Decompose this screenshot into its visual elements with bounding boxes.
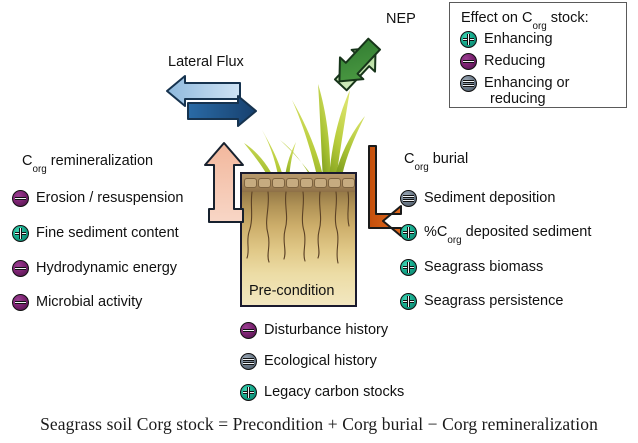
left-item-microbial: Microbial activity (12, 294, 142, 311)
legend-item-reducing: Reducing (460, 53, 545, 70)
burial-arrow (369, 146, 401, 236)
left-heading-pre: C (22, 153, 32, 169)
right-item-label: %Corg deposited sediment (424, 225, 591, 240)
left-item-erosion: Erosion / resuspension (12, 190, 184, 207)
right-heading-pre: C (404, 151, 414, 167)
minus-circle-icon (12, 260, 29, 277)
right-heading-post: burial (429, 151, 469, 167)
minus-circle-icon (240, 322, 257, 339)
left-item-label: Microbial activity (36, 295, 142, 310)
right-column-heading: Corg burial (404, 152, 468, 167)
minus-circle-icon (12, 190, 29, 207)
plus-circle-icon (400, 293, 417, 310)
lateral-flux-out-arrow (167, 76, 240, 106)
right-item-label-sub: org (447, 235, 461, 246)
left-column-heading: Corg remineralization (22, 154, 153, 169)
legend-title-pre: Effect on C (461, 10, 532, 26)
left-item-fine-sediment: Fine sediment content (12, 225, 179, 242)
legend-continuation: reducing (490, 91, 546, 107)
plus-circle-icon (400, 224, 417, 241)
legend-box: Effect on Corg stock: Enhancing Reducing… (449, 2, 627, 108)
legend-item-enhancing: Enhancing (460, 31, 553, 48)
minus-circle-icon (460, 53, 477, 70)
right-item-label: Seagrass persistence (424, 294, 563, 309)
legend-title: Effect on Corg stock: (461, 10, 589, 26)
legend-item-label: Enhancing or (484, 76, 569, 91)
remineralization-arrow (205, 143, 243, 222)
lateral-flux-in-arrow (188, 96, 256, 126)
right-item-label: Sediment deposition (424, 191, 555, 206)
plus-circle-icon (400, 259, 417, 276)
nep-down-arrow (328, 33, 386, 92)
left-item-label: Hydrodynamic energy (36, 261, 177, 276)
center-item-legacy-carbon: Legacy carbon stocks (240, 384, 404, 401)
right-item-label: Seagrass biomass (424, 260, 543, 275)
right-item-seagrass-biomass: Seagrass biomass (400, 259, 543, 276)
legend-title-post: stock: (547, 10, 589, 26)
both-circle-icon (240, 353, 257, 370)
both-circle-icon (400, 190, 417, 207)
right-item-percent-corg: %Corg deposited sediment (400, 224, 591, 241)
left-heading-sub: org (32, 164, 46, 175)
lateral-flux-label: Lateral Flux (168, 55, 244, 70)
right-item-label-post: deposited sediment (462, 224, 592, 240)
left-item-label: Erosion / resuspension (36, 191, 184, 206)
plus-circle-icon (12, 225, 29, 242)
plus-circle-icon (240, 384, 257, 401)
minus-circle-icon (12, 294, 29, 311)
plus-circle-icon (460, 31, 477, 48)
right-item-sediment-deposition: Sediment deposition (400, 190, 555, 207)
figure-canvas: Pre-condition (0, 0, 638, 443)
right-item-seagrass-persistence: Seagrass persistence (400, 293, 563, 310)
center-item-ecological-history: Ecological history (240, 353, 377, 370)
left-item-hydrodynamic: Hydrodynamic energy (12, 260, 177, 277)
center-item-disturbance-history: Disturbance history (240, 322, 388, 339)
caption-equation: Seagrass soil Corg stock = Precondition … (2, 414, 636, 435)
both-circle-icon (460, 75, 477, 92)
legend-item-label: Enhancing (484, 32, 553, 47)
legend-item-label: Reducing (484, 54, 545, 69)
right-item-label-pre: %C (424, 224, 447, 240)
nep-label: NEP (386, 12, 416, 27)
center-item-label: Legacy carbon stocks (264, 385, 404, 400)
center-item-label: Ecological history (264, 354, 377, 369)
left-item-label: Fine sediment content (36, 226, 179, 241)
legend-item-both: Enhancing or (460, 75, 569, 92)
center-item-label: Disturbance history (264, 323, 388, 338)
left-heading-post: remineralization (47, 153, 153, 169)
right-heading-sub: org (414, 162, 428, 173)
